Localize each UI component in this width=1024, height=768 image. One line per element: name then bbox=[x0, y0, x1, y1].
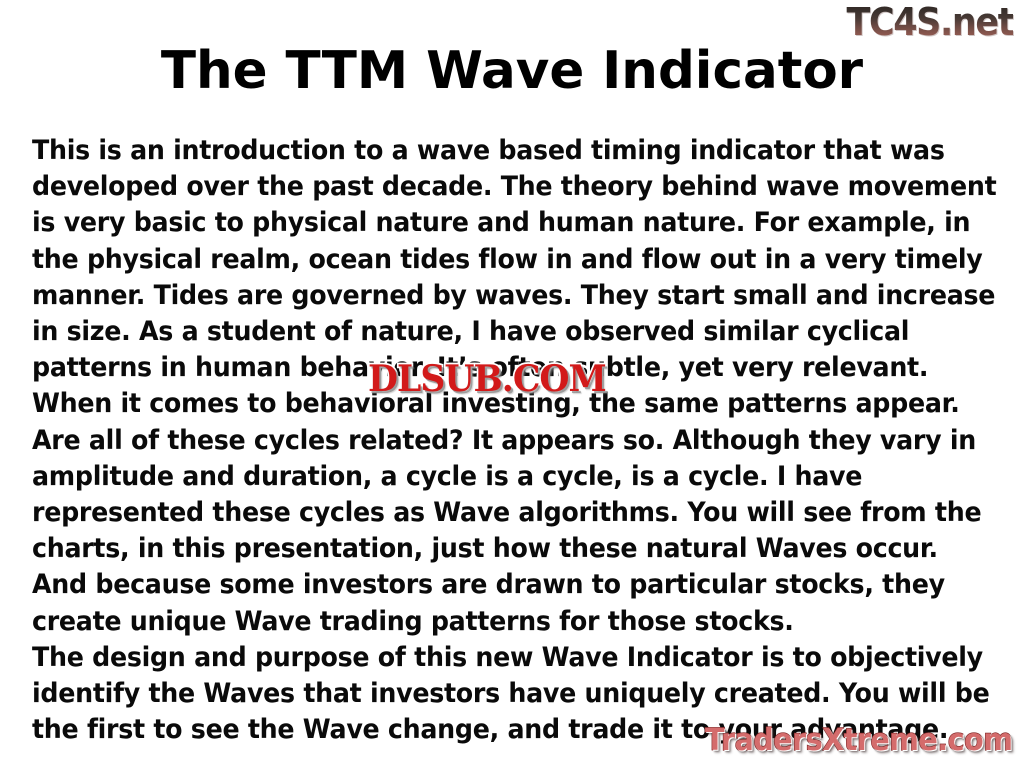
slide-title: The TTM Wave Indicator bbox=[5, 40, 1019, 102]
body-line: Are all of these cycles related? It appe… bbox=[32, 423, 956, 459]
dlsub-watermark: DLSUB.COM bbox=[368, 359, 606, 399]
body-line: The design and purpose of this new Wave … bbox=[32, 640, 956, 676]
slide-body-text: This is an introduction to a wave based … bbox=[32, 133, 956, 748]
body-line: And because some investors are drawn to … bbox=[32, 567, 956, 603]
body-line: developed over the past decade. The theo… bbox=[32, 169, 956, 205]
body-line: represented these cycles as Wave algorit… bbox=[32, 495, 956, 531]
body-line: manner. Tides are governed by waves. The… bbox=[32, 278, 956, 314]
tc4s-brand-logo: TC4S.net bbox=[846, 2, 1013, 42]
body-line: in size. As a student of nature, I have … bbox=[32, 314, 956, 350]
body-line: create unique Wave trading patterns for … bbox=[32, 604, 956, 640]
tradersxtreme-brand-logo: TradersXtreme.com bbox=[705, 724, 1012, 758]
presentation-slide: TC4S.net The TTM Wave Indicator This is … bbox=[0, 0, 1024, 768]
body-line: charts, in this presentation, just how t… bbox=[32, 531, 956, 567]
body-line: identify the Waves that investors have u… bbox=[32, 676, 956, 712]
body-line: This is an introduction to a wave based … bbox=[32, 133, 956, 169]
body-line: is very basic to physical nature and hum… bbox=[32, 205, 956, 241]
body-line: the physical realm, ocean tides flow in … bbox=[32, 242, 956, 278]
body-line: amplitude and duration, a cycle is a cyc… bbox=[32, 459, 956, 495]
